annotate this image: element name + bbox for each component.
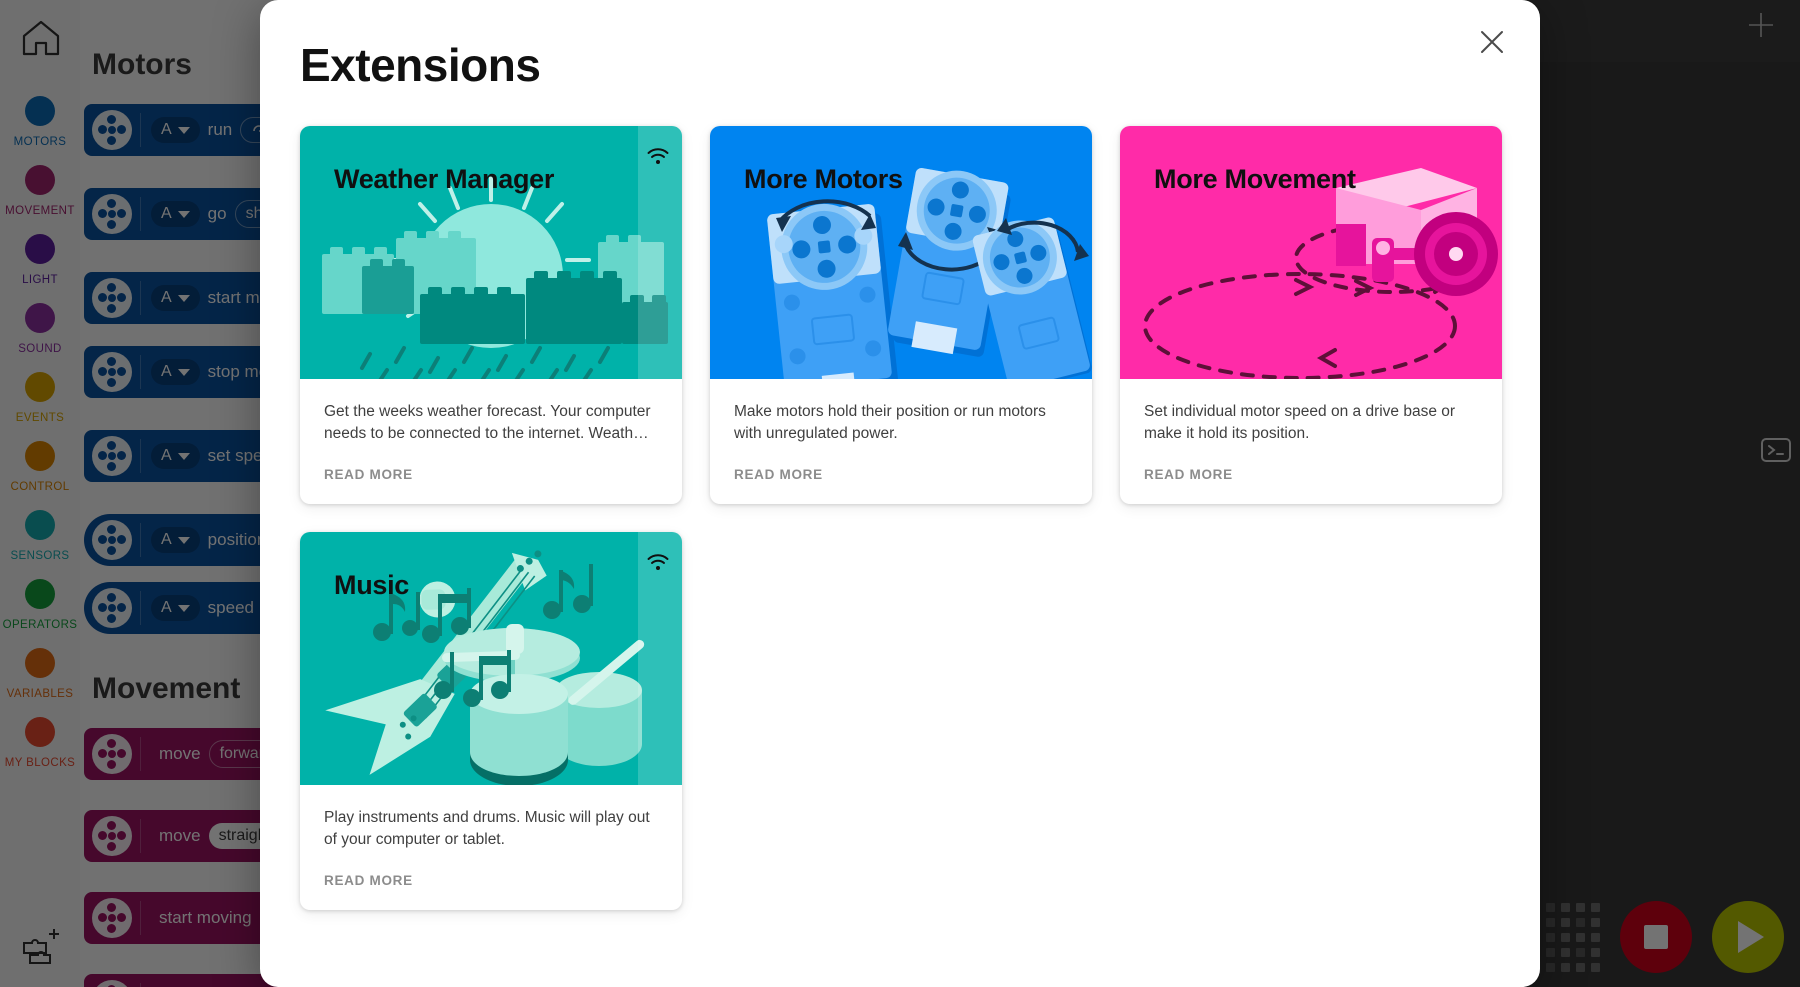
card-description: Set individual motor speed on a drive ba… [1144,401,1478,445]
drivebase-icon [92,980,132,987]
card-body: Get the weeks weather forecast. Your com… [300,379,682,504]
sidebar-item-control[interactable]: CONTROL [0,441,80,495]
terminal-icon[interactable] [1758,432,1794,468]
card-body: Make motors hold their position or run m… [710,379,1092,504]
block-label: run [208,120,233,140]
category-dot [25,717,55,747]
motor-icon [92,110,132,150]
port-value: A [161,121,172,139]
category-dot [25,303,55,333]
divider [140,901,141,935]
add-block-icon[interactable] [22,927,62,965]
port-dropdown[interactable]: A [151,595,200,621]
port-value: A [161,289,172,307]
category-dot [25,234,55,264]
stop-button[interactable] [1620,901,1692,973]
chevron-down-icon [178,211,190,218]
port-dropdown[interactable]: A [151,527,200,553]
divider [140,113,141,147]
category-dot [25,579,55,609]
extension-card-weather-manager[interactable]: Weather Manager Get the weeks weather fo… [300,126,682,504]
chevron-down-icon [178,453,190,460]
sidebar-item-label: LIGHT [22,274,58,286]
sidebar-item-motors[interactable]: MOTORS [0,96,80,150]
category-dot [25,648,55,678]
sidebar-item-label: EVENTS [16,412,64,424]
port-dropdown[interactable]: A [151,359,200,385]
chevron-down-icon [178,369,190,376]
extension-card-more-motors[interactable]: More Motors Make motors hold their posit… [710,126,1092,504]
chevron-down-icon [178,295,190,302]
card-hero: More Motors [710,126,1092,379]
play-icon [1738,921,1764,953]
sidebar-item-events[interactable]: EVENTS [0,372,80,426]
category-dot [25,165,55,195]
port-dropdown[interactable]: A [151,117,200,143]
port-value: A [161,599,172,617]
read-more-button[interactable]: READ MORE [1144,467,1478,482]
stage-controls [1531,901,1784,973]
drivebase-icon [92,898,132,938]
sidebar-item-label: MOTORS [14,136,67,148]
divider [140,591,141,625]
read-more-button[interactable]: READ MORE [734,467,1068,482]
category-dot [25,96,55,126]
card-title: Music [334,570,409,601]
card-title: More Movement [1154,164,1356,195]
extension-card-more-movement[interactable]: More Movement Set individual motor speed… [1120,126,1502,504]
category-dot [25,510,55,540]
motor-icon [92,352,132,392]
wifi-icon [646,552,670,577]
sidebar-item-label: MOVEMENT [5,205,75,217]
add-project-button[interactable] [1744,8,1778,42]
divider [140,355,141,389]
chevron-down-icon [178,537,190,544]
read-more-button[interactable]: READ MORE [324,873,658,888]
block-label: position [208,530,267,550]
card-body: Play instruments and drums. Music will p… [300,785,682,910]
block-label: move [159,826,201,846]
play-button[interactable] [1712,901,1784,973]
motor-icon [92,520,132,560]
card-title: More Motors [744,164,903,195]
chevron-down-icon [178,605,190,612]
motor-icon [92,436,132,476]
stop-icon [1644,925,1668,949]
sidebar-item-label: SENSORS [10,550,69,562]
card-description: Play instruments and drums. Music will p… [324,807,658,851]
page-title: Extensions [260,0,1540,92]
sidebar-item-label: OPERATORS [3,619,78,631]
sidebar-item-light[interactable]: LIGHT [0,234,80,288]
motor-icon [92,194,132,234]
sidebar-item-my-blocks[interactable]: MY BLOCKS [0,717,80,771]
port-dropdown[interactable]: A [151,443,200,469]
divider [140,737,141,771]
divider [140,439,141,473]
divider [140,281,141,315]
category-dot [25,441,55,471]
card-description: Get the weeks weather forecast. Your com… [324,401,658,445]
close-icon[interactable] [1472,22,1512,62]
sidebar-item-variables[interactable]: VARIABLES [0,648,80,702]
sidebar-item-label: CONTROL [10,481,69,493]
block-label: start moving [159,908,252,928]
wifi-icon [646,146,670,171]
extensions-modal: Extensions [260,0,1540,987]
motor-icon [92,278,132,318]
sidebar-item-operators[interactable]: OPERATORS [0,579,80,633]
sidebar-item-label: MY BLOCKS [5,757,76,769]
block-label: go [208,204,227,224]
extension-card-music[interactable]: Music Play instruments and drums. Music … [300,532,682,910]
port-value: A [161,531,172,549]
sidebar-item-sensors[interactable]: SENSORS [0,510,80,564]
divider [140,523,141,557]
sidebar-item-label: SOUND [18,343,62,355]
port-dropdown[interactable]: A [151,201,200,227]
card-hero: Music [300,532,682,785]
sidebar-item-sound[interactable]: SOUND [0,303,80,357]
card-hero: Weather Manager [300,126,682,379]
chevron-down-icon [178,127,190,134]
port-value: A [161,447,172,465]
block-label: speed [208,598,254,618]
card-description: Make motors hold their position or run m… [734,401,1068,445]
card-title: Weather Manager [334,164,554,195]
divider [140,819,141,853]
extensions-grid: Weather Manager Get the weeks weather fo… [260,92,1540,910]
divider [140,197,141,231]
card-hero: More Movement [1120,126,1502,379]
drivebase-icon [92,816,132,856]
category-dot [25,372,55,402]
sidebar-item-label: VARIABLES [7,688,74,700]
app-root: MOTORS MOVEMENT LIGHT SOUND EVENTS CONTR… [0,0,1800,987]
port-value: A [161,205,172,223]
led-matrix-preview[interactable] [1531,903,1600,972]
read-more-button[interactable]: READ MORE [324,467,658,482]
port-dropdown[interactable]: A [151,285,200,311]
sidebar-item-movement[interactable]: MOVEMENT [0,165,80,219]
card-body: Set individual motor speed on a drive ba… [1120,379,1502,504]
divider [140,983,141,987]
drivebase-icon [92,734,132,774]
motor-icon [92,588,132,628]
block-label: move [159,744,201,764]
home-icon[interactable] [20,18,62,58]
port-value: A [161,363,172,381]
category-rail[interactable]: MOTORS MOVEMENT LIGHT SOUND EVENTS CONTR… [0,0,80,987]
